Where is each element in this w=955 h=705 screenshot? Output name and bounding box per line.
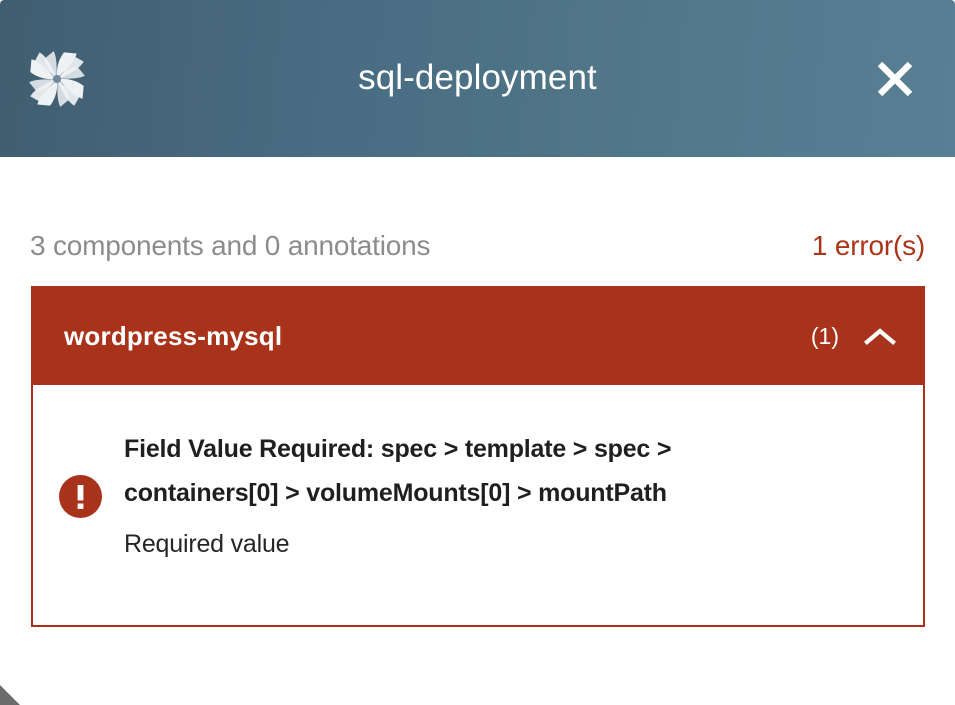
error-message-detail: Required value: [124, 522, 893, 566]
error-text-block: Field Value Required: spec > template > …: [120, 427, 893, 566]
error-item: Field Value Required: spec > template > …: [59, 427, 893, 566]
summary-row: 3 components and 0 annotations 1 error(s…: [0, 222, 955, 270]
error-group-title: wordpress-mysql: [64, 321, 282, 352]
modal-header: sql-deployment: [0, 0, 955, 157]
close-button[interactable]: [871, 55, 919, 103]
collapse-toggle-button[interactable]: [863, 320, 897, 354]
corner-wedge-icon: [0, 679, 22, 705]
error-message-title: Field Value Required: spec > template > …: [124, 427, 724, 515]
error-count-label: 1 error(s): [812, 230, 925, 262]
chevron-up-icon: [864, 327, 896, 347]
error-group-count: (1): [811, 323, 839, 350]
error-group-header[interactable]: wordpress-mysql (1): [33, 288, 923, 385]
exclamation-glyph: [59, 475, 102, 518]
error-modal: sql-deployment 3 components and 0 annota…: [0, 0, 955, 705]
corner-artifact: [0, 679, 22, 705]
error-group-panel: wordpress-mysql (1): [31, 286, 925, 627]
error-exclamation-icon: [59, 475, 102, 518]
components-summary-label: 3 components and 0 annotations: [30, 230, 430, 262]
page-title: sql-deployment: [0, 52, 955, 104]
close-x-icon: [873, 57, 917, 101]
error-group-body: Field Value Required: spec > template > …: [33, 385, 923, 625]
error-group-header-right: (1): [811, 320, 897, 354]
